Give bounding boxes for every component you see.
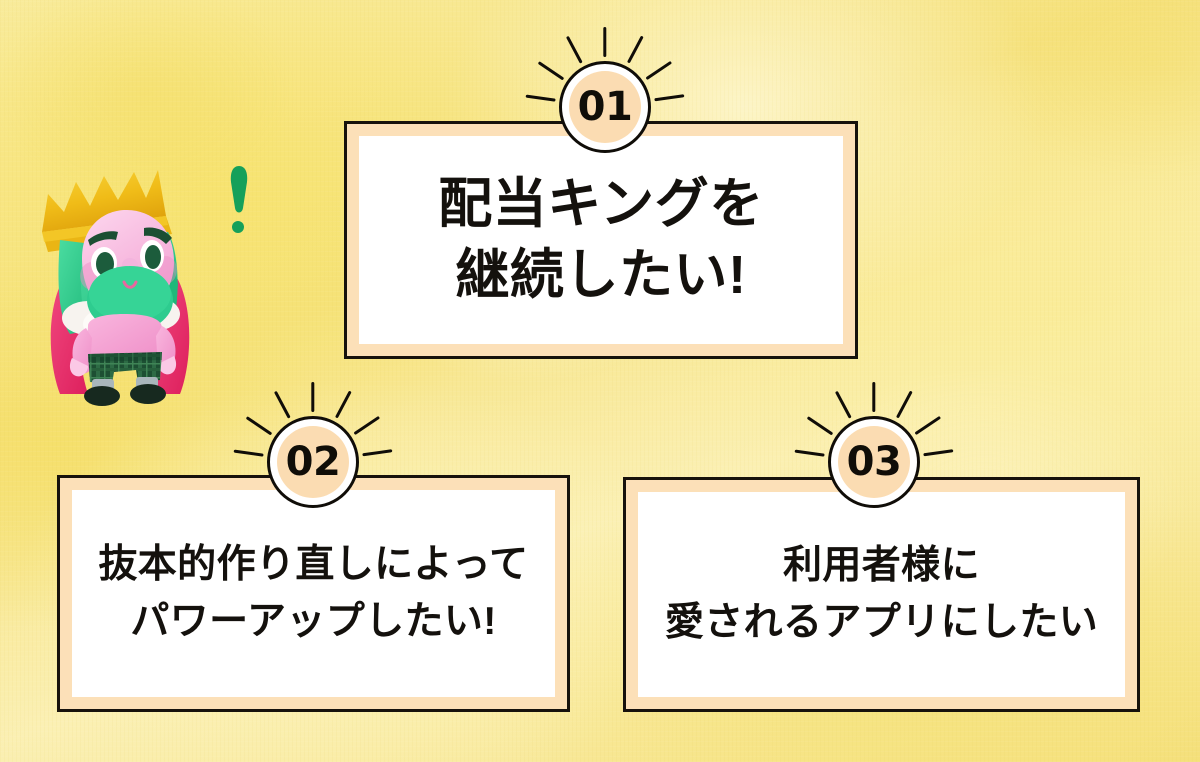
info-box-01-line-2: 継続したい! xyxy=(455,240,746,311)
sun-ray xyxy=(835,391,852,419)
sun-ray xyxy=(362,449,392,457)
info-box-03[interactable]: 利用者様に 愛されるアプリにしたい xyxy=(623,477,1140,712)
info-box-01[interactable]: 配当キングを 継続したい! xyxy=(344,121,858,359)
info-box-03-line-1: 利用者様に xyxy=(783,538,980,595)
badge-03-number: 03 xyxy=(847,442,902,482)
mascot-shoes xyxy=(84,384,166,406)
sun-ray xyxy=(627,36,644,64)
sun-ray xyxy=(354,416,381,436)
sun-ray xyxy=(807,416,834,436)
sun-ray xyxy=(538,61,565,81)
sun-ray xyxy=(896,391,913,419)
sun-ray xyxy=(246,416,273,436)
info-box-02-line-2: パワーアップしたい! xyxy=(130,594,496,651)
sun-ray xyxy=(872,382,875,412)
info-box-01-inner: 配当キングを 継続したい! xyxy=(359,136,843,344)
sun-ray xyxy=(795,449,825,457)
info-box-02[interactable]: 抜本的作り直しによって パワーアップしたい! xyxy=(57,475,570,712)
sun-ray xyxy=(274,391,291,419)
info-box-03-line-2: 愛されるアプリにしたい xyxy=(665,595,1098,652)
info-box-02-line-1: 抜本的作り直しによって xyxy=(98,537,528,594)
sun-ray xyxy=(646,61,673,81)
sun-ray xyxy=(915,416,942,436)
sun-ray xyxy=(335,391,352,419)
sun-ray xyxy=(234,449,264,457)
info-box-01-line-1: 配当キングを xyxy=(438,169,764,240)
sun-ray xyxy=(923,449,953,457)
exclamation-mark-icon xyxy=(222,164,256,236)
slide-canvas: 配当キングを 継続したい! 01 抜本的作り直しによって パワーアップしたい! xyxy=(0,0,1200,762)
sun-ray xyxy=(603,27,606,57)
sun-ray xyxy=(566,36,583,64)
sun-ray xyxy=(654,94,684,102)
king-mascot-illustration xyxy=(26,158,216,408)
sun-ray xyxy=(311,382,314,412)
info-box-03-inner: 利用者様に 愛されるアプリにしたい xyxy=(638,492,1125,697)
sun-ray xyxy=(526,94,556,102)
info-box-02-inner: 抜本的作り直しによって パワーアップしたい! xyxy=(72,490,555,697)
